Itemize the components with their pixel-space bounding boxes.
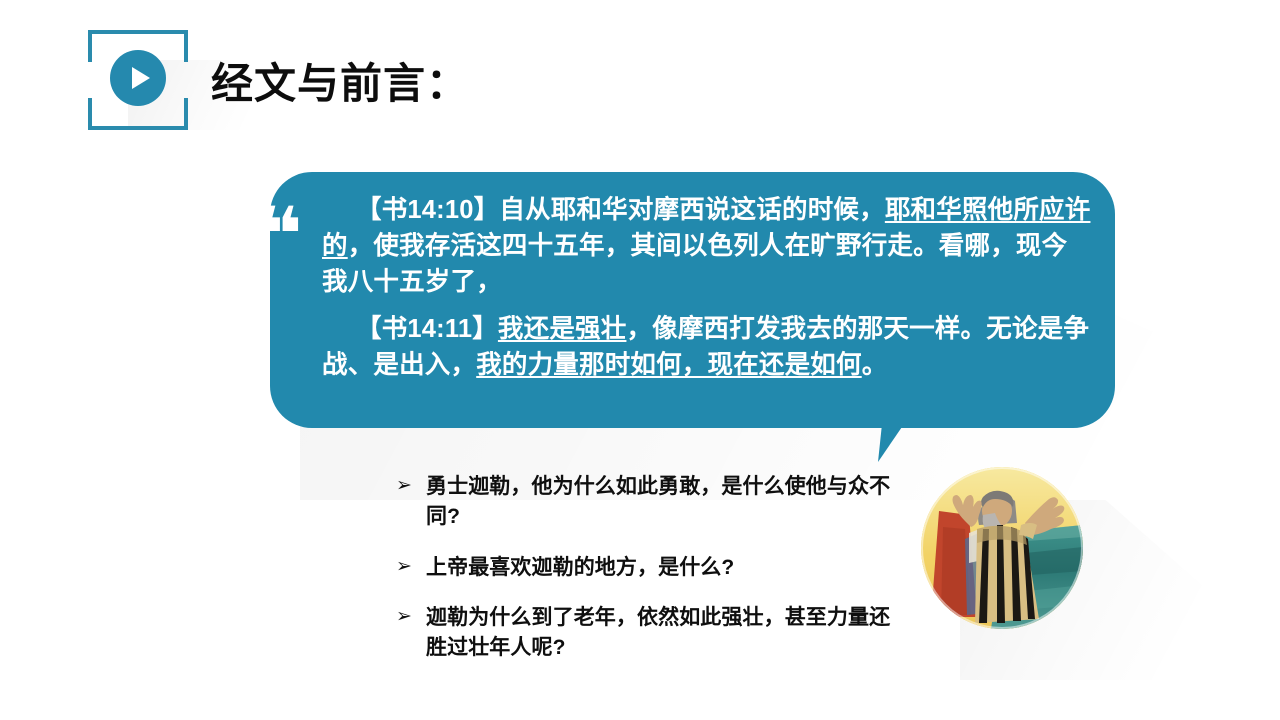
illustration-image (921, 467, 1083, 629)
play-triangle-icon (132, 67, 150, 89)
quote-mark-icon: ❝ (258, 197, 303, 273)
scripture-text: 【书14:10】自从耶和华对摩西说这话的时候，耶和华照他所应许的，使我存活这四十… (322, 192, 1092, 383)
page-title: 经文与前言： (211, 50, 469, 111)
arrow-bullet-icon: ➢ (396, 603, 426, 630)
list-item-label: 上帝最喜欢迦勒的地方，是什么? (426, 553, 896, 583)
verse-ref-2: 【书14:11】 (356, 315, 498, 343)
question-list: ➢ 勇士迦勒，他为什么如此勇敢，是什么使他与众不同? ➢ 上帝最喜欢迦勒的地方，… (396, 472, 896, 663)
frame-corner-top-right (154, 30, 188, 62)
list-item-label: 勇士迦勒，他为什么如此勇敢，是什么使他与众不同? (426, 472, 896, 532)
frame-corner-top-left (88, 30, 122, 62)
scripture-paragraph-1: 【书14:10】自从耶和华对摩西说这话的时候，耶和华照他所应许的，使我存活这四十… (322, 192, 1092, 301)
arrow-bullet-icon: ➢ (396, 553, 426, 580)
verse-seg: 自从耶和华对摩西说这话的时候， (499, 196, 885, 224)
list-item-label: 迦勒为什么到了老年，依然如此强壮，甚至力量还胜过壮年人呢? (426, 603, 896, 663)
list-item: ➢ 上帝最喜欢迦勒的地方，是什么? (396, 553, 896, 583)
bubble-tail (878, 424, 928, 462)
verse-seg: 。 (862, 351, 888, 379)
list-item: ➢ 勇士迦勒，他为什么如此勇敢，是什么使他与众不同? (396, 472, 896, 532)
verse-ref-1: 【书14:10】 (356, 196, 499, 224)
verse-seg-underlined: 我的力量那时如何，现在还是如何 (476, 351, 862, 379)
frame-corner-bottom-right (154, 98, 188, 130)
play-icon (110, 50, 166, 106)
scripture-paragraph-2: 【书14:11】我还是强壮，像摩西打发我去的那天一样。无论是争战、是出入，我的力… (322, 311, 1092, 383)
verse-seg: ，使我存活这四十五年，其间以色列人在旷野行走。看哪，现今我八十五岁了， (322, 232, 1067, 296)
play-logo (88, 30, 188, 130)
slide-canvas: 经文与前言： ❝ 【书14:10】自从耶和华对摩西说这话的时候，耶和华照他所应许… (0, 0, 1280, 720)
arrow-bullet-icon: ➢ (396, 472, 426, 499)
list-item: ➢ 迦勒为什么到了老年，依然如此强壮，甚至力量还胜过壮年人呢? (396, 603, 896, 663)
verse-seg-underlined: 我还是强壮 (498, 315, 627, 343)
